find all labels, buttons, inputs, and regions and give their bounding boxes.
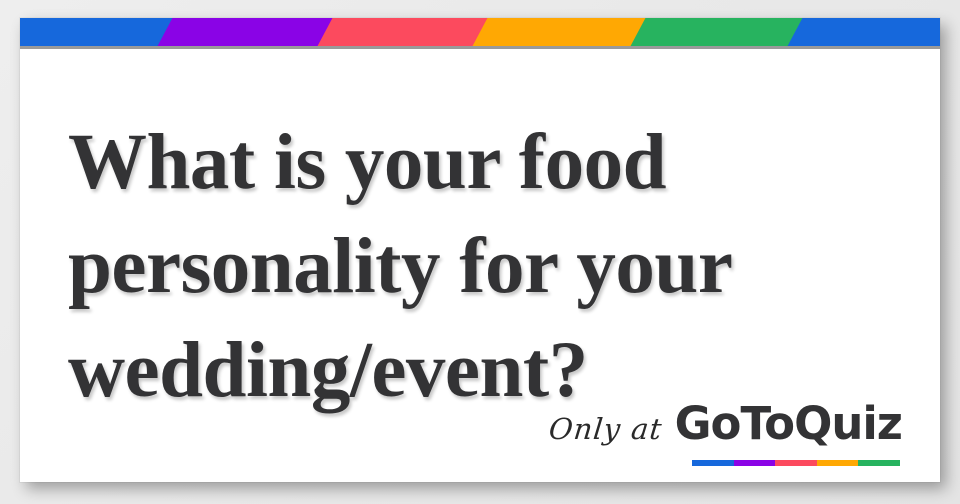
rainbow-stripe-band xyxy=(20,18,940,46)
brand-color-rule xyxy=(692,460,900,466)
brand-lockup: Only at GoToQuiz xyxy=(549,397,902,450)
stripe-right-cap xyxy=(820,18,940,46)
brand-rule-segment-3 xyxy=(817,460,859,466)
page-background: What is your food personality for your w… xyxy=(0,0,960,504)
stripe-band-underline xyxy=(20,46,940,49)
brand-name-label: GoToQuiz xyxy=(675,397,902,450)
quiz-title-card: What is your food personality for your w… xyxy=(20,18,940,482)
brand-rule-segment-4 xyxy=(858,460,900,466)
brand-rule-segment-1 xyxy=(734,460,776,466)
page-title: What is your food personality for your w… xyxy=(68,111,898,423)
brand-rule-segment-0 xyxy=(692,460,734,466)
brand-rule-segment-2 xyxy=(775,460,817,466)
brand-only-at-label: Only at xyxy=(548,412,665,446)
